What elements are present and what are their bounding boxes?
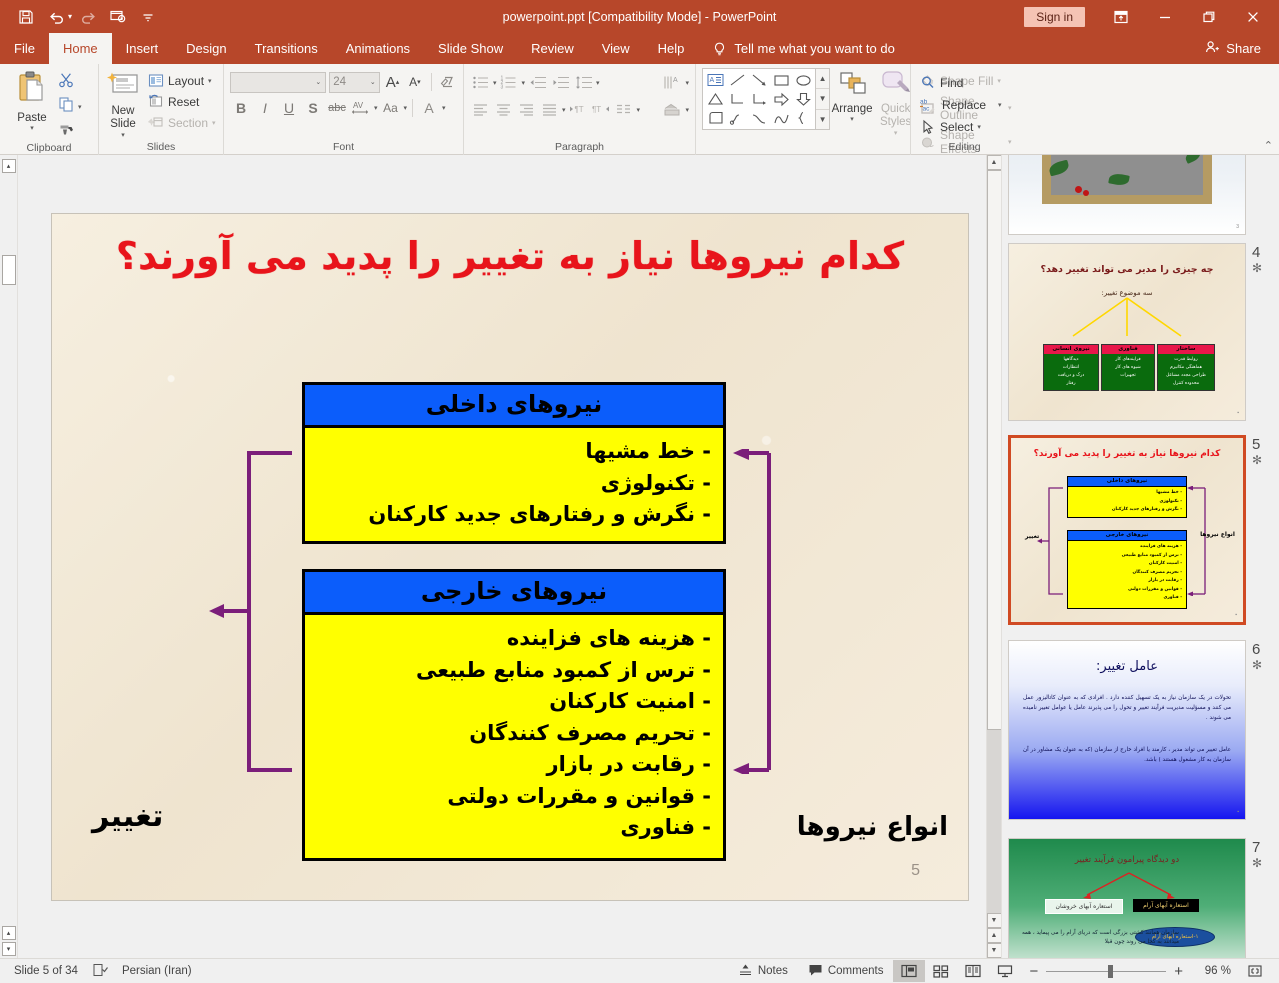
increase-font-size-button[interactable]: A▴	[383, 71, 402, 93]
rail-scroll-down-icon[interactable]: ▾	[2, 942, 16, 956]
shape-down-arrow-icon[interactable]	[792, 89, 814, 108]
character-spacing-button[interactable]: AV	[350, 97, 372, 119]
format-painter-icon	[58, 120, 75, 141]
underline-button[interactable]: U	[278, 97, 300, 119]
group-label-font: Font	[224, 140, 463, 155]
reset-icon	[148, 94, 164, 109]
canvas-vertical-scrollbar[interactable]: ▲ ▼ ▲ ▼	[986, 155, 1001, 958]
notes-label: Notes	[758, 965, 788, 977]
arrange-label: Arrange	[832, 103, 873, 115]
previous-slide-icon[interactable]: ▲	[987, 928, 1002, 943]
increase-indent-icon[interactable]	[550, 72, 571, 93]
undo-dropdown-icon[interactable]: ▾	[68, 12, 72, 21]
paste-button[interactable]: Paste ▾	[6, 68, 58, 132]
status-bar: Slide 5 of 34 Persian (Iran) Notes Comme…	[0, 958, 1279, 983]
reset-button[interactable]: Reset	[145, 92, 219, 111]
shape-left-brace-icon[interactable]	[792, 109, 814, 128]
arrange-icon	[835, 70, 869, 103]
paste-dropdown-icon[interactable]: ▾	[30, 124, 34, 132]
internal-forces-box[interactable]: نیروهای داخلی - خط مشیها - تکنولوژی - نگ…	[302, 382, 726, 544]
thumbnail-body: سازمان همانند کشتی بزرگی است که دریای آر…	[1019, 929, 1179, 947]
font-name-combobox[interactable]: ⌄	[230, 72, 326, 93]
list-item: - قوانین و مقررات دولتی	[317, 781, 711, 813]
align-center-icon[interactable]	[493, 99, 514, 120]
thumbnail-slide-4[interactable]: چه چیزی را مدیر می تواند تغییر دهد؟ سه م…	[1008, 243, 1246, 421]
svg-text:¶T: ¶T	[575, 105, 584, 114]
quick-styles-dropdown-icon[interactable]: ▾	[894, 129, 898, 137]
tab-help[interactable]: Help	[644, 33, 699, 64]
list-item: - هزینه های فزاینده	[317, 623, 711, 655]
shape-elbow-connector-icon[interactable]	[726, 89, 748, 108]
next-slide-icon[interactable]: ▼	[987, 943, 1002, 958]
group-label-paragraph: Paragraph	[464, 140, 695, 155]
smartart-dropdown-icon[interactable]: ▾	[685, 106, 689, 114]
tab-home[interactable]: Home	[49, 33, 112, 64]
thumbnail-number: 5	[1252, 437, 1260, 453]
thumbnail-slide-number: ▪	[1237, 410, 1239, 416]
gallery-scroll-down-icon[interactable]: ▼	[816, 88, 828, 108]
thumbnail-left-bracket	[1037, 486, 1071, 596]
slide-indicator[interactable]: Slide 5 of 34	[14, 965, 78, 977]
thumbnail-row[interactable]: چه چیزی را مدیر می تواند تغییر دهد؟ سه م…	[1002, 243, 1279, 421]
tab-animations[interactable]: Animations	[332, 33, 424, 64]
search-icon	[920, 75, 936, 90]
thumbnail-row[interactable]: کدام نیروها نیاز به تغییر را پدید می آور…	[1002, 435, 1279, 625]
comments-label: Comments	[828, 965, 884, 977]
change-case-dropdown-icon[interactable]: ▾	[404, 104, 408, 112]
list-item: - خط مشیها	[317, 436, 711, 468]
zoom-slider[interactable]	[1046, 971, 1166, 972]
tell-me-search[interactable]: Tell me what you want to do	[712, 33, 894, 64]
shape-flowchart-icon[interactable]	[704, 109, 726, 128]
gallery-scroll-up-icon[interactable]: ▲	[816, 69, 828, 88]
align-dropdown-icon[interactable]: ▾	[562, 106, 566, 114]
list-item: - ترس از کمبود منابع طبیعی	[317, 655, 711, 687]
zoom-control[interactable]: − + 96 %	[1021, 963, 1239, 980]
share-person-icon	[1204, 39, 1220, 58]
ribbon-group-font: ⌄ 24 ⌄ A▴ A▾ B	[223, 64, 463, 155]
copy-button[interactable]: ▾	[58, 96, 82, 117]
ltr-text-direction-icon[interactable]: ¶T	[568, 99, 589, 120]
animation-star-icon[interactable]: ✻	[1252, 856, 1262, 870]
external-forces-list: - هزینه های فزاینده - ترس از کمبود منابع…	[305, 615, 723, 858]
left-bracket-arrow	[207, 449, 342, 774]
thumbnail-slide-5[interactable]: کدام نیروها نیاز به تغییر را پدید می آور…	[1008, 435, 1246, 625]
ribbon-group-slides: New Slide ▾ Layout ▾	[98, 64, 223, 155]
replace-button[interactable]: abac Replace ▾	[917, 95, 1005, 114]
fit-slide-to-window-icon[interactable]	[1239, 960, 1271, 982]
bullets-icon[interactable]	[470, 72, 491, 93]
scroll-track[interactable]	[987, 170, 1002, 913]
thumbnail-slide-number: ▪	[1235, 612, 1237, 618]
ribbon-tabs: File Home Insert Design Transitions Anim…	[0, 33, 1279, 64]
section-dropdown-icon[interactable]: ▾	[212, 119, 216, 127]
comments-button[interactable]: Comments	[798, 959, 894, 983]
thumbnail-paragraph: تحولات در یک سازمان نیاز به یک تسهیل کنن…	[1023, 693, 1231, 723]
undo-icon[interactable]	[42, 4, 70, 30]
internal-forces-list: - خط مشیها - تکنولوژی - نگرش و رفتارهای …	[305, 428, 723, 541]
clear-formatting-icon[interactable]	[438, 71, 457, 93]
replace-dropdown-icon[interactable]: ▾	[998, 101, 1002, 109]
arrange-button[interactable]: Arrange ▾	[830, 68, 875, 123]
tab-view[interactable]: View	[588, 33, 644, 64]
section-icon	[148, 115, 164, 130]
slide-thumbnail-pane[interactable]: مقابله با وسیله تغییر صورت می گیرد. تغیی…	[1001, 155, 1279, 958]
decrease-font-size-button[interactable]: A▾	[405, 71, 424, 93]
label-change[interactable]: تغییر	[92, 799, 163, 834]
redo-icon[interactable]	[74, 4, 102, 30]
thumbnail-arrows	[1069, 871, 1189, 901]
shape-arrow-icon[interactable]	[748, 70, 770, 89]
gallery-expand-icon[interactable]: ▼	[816, 109, 828, 129]
right-bracket-arrows	[727, 449, 842, 774]
paste-icon	[15, 70, 49, 111]
scroll-up-icon[interactable]: ▲	[987, 155, 1002, 170]
replace-icon: abac	[920, 97, 938, 112]
collapse-ribbon-icon[interactable]: ⌃	[1264, 139, 1273, 152]
thumbnail-box-human: نیروی انسانی دیدگاهها انتظارات درک و دری…	[1043, 344, 1099, 391]
layout-dropdown-icon[interactable]: ▾	[208, 77, 212, 85]
find-button[interactable]: Find	[917, 73, 1005, 92]
thumbnail-tag-calm: استعاره آبهای آرام	[1133, 899, 1199, 912]
slide-number: 5	[911, 862, 920, 880]
decrease-indent-icon[interactable]	[527, 72, 548, 93]
collapsed-slide-pane[interactable]	[2, 255, 16, 285]
list-item: - تکنولوژی	[317, 468, 711, 500]
powerpoint-window: ▾ powerpoint.ppt [Compatibility Mode] - …	[0, 0, 1279, 983]
tab-review[interactable]: Review	[517, 33, 588, 64]
svg-text:3: 3	[501, 85, 504, 90]
layout-icon	[148, 73, 164, 88]
change-case-button[interactable]: Aa	[380, 97, 402, 119]
current-slide[interactable]: کدام نیروها نیاز به تغییر را پدید می آور…	[51, 213, 969, 901]
zoom-out-icon[interactable]: −	[1029, 963, 1038, 980]
minimize-icon[interactable]	[1143, 0, 1187, 33]
tab-file[interactable]: File	[0, 33, 49, 64]
animation-star-icon[interactable]: ✻	[1252, 658, 1262, 672]
thumbnail-slide-6[interactable]: عامل تغییر: تحولات در یک سازمان نیاز به …	[1008, 640, 1246, 820]
thumbnail-title: چه چیزی را مدیر می تواند تغییر دهد؟	[1009, 264, 1245, 275]
thumbnail-paragraph: عامل تغییر می تواند مدیر ، کارمند یا افر…	[1023, 745, 1231, 765]
new-slide-button[interactable]: New Slide ▾	[105, 68, 141, 139]
new-slide-icon	[105, 70, 141, 105]
sign-in-button[interactable]: Sign in	[1024, 7, 1085, 27]
notes-icon	[738, 963, 753, 980]
bullets-dropdown-icon[interactable]: ▾	[493, 79, 497, 87]
list-item: - تحریم مصرف کنندگان	[317, 718, 711, 750]
paste-label: Paste	[17, 112, 46, 124]
accessibility-checker-icon[interactable]	[92, 963, 108, 980]
connector-lines	[1009, 296, 1246, 344]
cursor-icon	[920, 119, 936, 134]
left-rail: ▴ ▴ ▾	[0, 155, 18, 958]
find-label: Find	[940, 76, 963, 90]
ribbon-group-clipboard: Paste ▾ ▾	[0, 64, 98, 155]
internal-forces-heading: نیروهای داخلی	[305, 385, 723, 428]
new-slide-label: New Slide	[105, 105, 141, 131]
slide-title[interactable]: کدام نیروها نیاز به تغییر را پدید می آور…	[52, 234, 968, 278]
text-direction-icon[interactable]: A	[662, 72, 683, 93]
numbering-dropdown-icon[interactable]: ▾	[522, 79, 526, 87]
thumbnail-number: 7	[1252, 840, 1260, 856]
svg-text:ac: ac	[923, 106, 931, 113]
ribbon-group-editing: Find abac Replace ▾ Select	[910, 64, 1018, 155]
list-item: - فناوری	[317, 812, 711, 844]
external-forces-heading: نیروهای خارجی	[305, 572, 723, 615]
format-painter-button[interactable]	[58, 120, 82, 141]
copy-dropdown-icon[interactable]: ▾	[78, 103, 82, 111]
tell-me-label: Tell me what you want to do	[734, 41, 894, 56]
thumbnail-slide-number: 3	[1236, 224, 1239, 230]
align-right-icon[interactable]	[516, 99, 537, 120]
ribbon-display-options-icon[interactable]	[1099, 0, 1143, 33]
cut-icon	[58, 72, 75, 93]
layout-label: Layout	[168, 74, 204, 88]
shape-triangle-icon[interactable]	[704, 89, 726, 108]
ribbon-group-drawing: A	[695, 64, 910, 155]
line-spacing-icon[interactable]	[573, 72, 594, 93]
section-button[interactable]: Section ▾	[145, 113, 219, 132]
replace-label: Replace	[942, 98, 986, 112]
section-label: Section	[168, 116, 208, 130]
thumbnail-internal-box: نیروهای داخلی - خط مشیها - تکنولوژی - نگ…	[1067, 476, 1187, 518]
thumbnail-title: دو دیدگاه پیرامون فرآیند تغییر	[1009, 855, 1245, 865]
lightbulb-icon	[712, 41, 727, 57]
thumbnail-slide-3[interactable]: مقابله با وسیله تغییر صورت می گیرد. تغیی…	[1008, 155, 1246, 235]
tab-design[interactable]: Design	[172, 33, 240, 64]
columns-icon[interactable]	[614, 99, 635, 120]
font-size-value: 24	[333, 76, 346, 88]
reset-label: Reset	[168, 95, 199, 109]
cut-button[interactable]	[58, 72, 82, 93]
shape-oval-icon[interactable]	[792, 70, 814, 89]
thumbnail-title: عامل تغییر:	[1009, 659, 1245, 674]
font-size-combobox[interactable]: 24 ⌄	[329, 72, 379, 93]
comment-icon	[808, 963, 823, 980]
list-item: - نگرش و رفتارهای جدید کارکنان	[317, 499, 711, 531]
strikethrough-button[interactable]: abc	[326, 97, 348, 119]
external-forces-box[interactable]: نیروهای خارجی - هزینه های فزاینده - ترس …	[302, 569, 726, 861]
shapes-gallery-scrollbar[interactable]: ▲ ▼ ▼	[816, 68, 829, 130]
customize-qat-icon[interactable]	[134, 4, 162, 30]
thumbnail-row[interactable]: مقابله با وسیله تغییر صورت می گیرد. تغیی…	[1002, 155, 1279, 235]
group-label-slides: Slides	[99, 140, 223, 155]
shape-line-icon[interactable]	[726, 70, 748, 89]
close-icon[interactable]	[1231, 0, 1275, 33]
list-item: - امنیت کارکنان	[317, 686, 711, 718]
shape-elbow-arrow-icon[interactable]	[748, 89, 770, 108]
quick-access-toolbar: ▾	[0, 4, 162, 30]
line-spacing-dropdown-icon[interactable]: ▾	[596, 79, 600, 87]
thumbnail-right-bracket	[1183, 486, 1215, 596]
shape-rectangle-icon[interactable]	[770, 70, 792, 89]
normal-view-icon[interactable]	[893, 960, 925, 982]
label-types-of-forces[interactable]: انواع نیروها	[797, 812, 948, 842]
work-area: ▴ ▴ ▾ کدام نیروها نیاز به تغییر را پدید …	[0, 155, 1279, 958]
thumbnail-row[interactable]: عامل تغییر: تحولات در یک سازمان نیاز به …	[1002, 640, 1279, 820]
font-color-dropdown-icon[interactable]: ▾	[442, 104, 446, 112]
svg-text:AV: AV	[353, 101, 364, 110]
text-shadow-button[interactable]: S	[302, 97, 324, 119]
zoom-percent[interactable]: 96 %	[1191, 965, 1231, 977]
group-label-editing: Editing	[911, 140, 1018, 155]
rtl-text-direction-icon[interactable]: ¶T	[591, 99, 612, 120]
italic-button[interactable]: I	[254, 97, 276, 119]
restore-icon[interactable]	[1187, 0, 1231, 33]
scroll-thumb[interactable]	[987, 170, 1002, 730]
reading-view-icon[interactable]	[957, 960, 989, 982]
thumbnail-box-structure: ساختار روابط قدرت هماهنگی مکانیزم طراحی …	[1157, 344, 1215, 391]
thumbnail-label-change: تغییر	[1025, 533, 1039, 540]
tab-slide-show[interactable]: Slide Show	[424, 33, 517, 64]
svg-text:¶T: ¶T	[592, 105, 601, 114]
thumbnail-slide-7[interactable]: دو دیدگاه پیرامون فرآیند تغییر استعاره آ…	[1008, 838, 1246, 958]
share-button[interactable]: Share	[1204, 33, 1279, 64]
thumbnail-external-box: نیروهای خارجی - هزینه های فزاینده - ترس …	[1067, 530, 1187, 609]
shape-textbox-icon[interactable]: A	[704, 70, 726, 89]
group-label-clipboard: Clipboard	[0, 141, 98, 156]
thumbnail-row[interactable]: دو دیدگاه پیرامون فرآیند تغییر استعاره آ…	[1002, 838, 1279, 958]
quick-styles-icon	[879, 70, 913, 103]
shape-right-arrow-icon[interactable]	[770, 89, 792, 108]
rail-scroll-up-icon[interactable]: ▴	[2, 926, 16, 940]
arrange-dropdown-icon[interactable]: ▾	[850, 115, 854, 123]
svg-text:A: A	[673, 77, 678, 84]
thumbnail-label-types: انواع نیروها	[1200, 531, 1235, 538]
slideshow-icon[interactable]	[989, 960, 1021, 982]
font-size-dropdown-icon[interactable]: ⌄	[370, 78, 376, 86]
start-slideshow-icon[interactable]	[104, 4, 132, 30]
save-icon[interactable]	[12, 4, 40, 30]
shape-freeform-icon[interactable]	[726, 109, 748, 128]
text-direction-dropdown-icon[interactable]: ▾	[685, 79, 689, 87]
expand-thumbnail-pane-icon[interactable]: ▴	[2, 159, 16, 173]
slide-sorter-icon[interactable]	[925, 960, 957, 982]
thumbnail-box-technology: فناوری فرایندهای کار شیوه های کار تجهیزا…	[1101, 344, 1155, 391]
character-spacing-dropdown-icon[interactable]: ▾	[374, 104, 378, 112]
columns-dropdown-icon[interactable]: ▾	[637, 106, 641, 114]
ribbon: Paste ▾ ▾	[0, 64, 1279, 155]
zoom-in-icon[interactable]: +	[1174, 963, 1183, 980]
language-indicator[interactable]: Persian (Iran)	[122, 965, 192, 977]
list-item: - رقابت در بازار	[317, 749, 711, 781]
animation-star-icon[interactable]: ✻	[1252, 261, 1262, 275]
notes-button[interactable]: Notes	[728, 959, 798, 983]
layout-button[interactable]: Layout ▾	[145, 71, 219, 90]
ribbon-group-paragraph: ▾ 123 ▾ ▾	[463, 64, 695, 155]
justify-icon[interactable]	[539, 99, 560, 120]
thumbnail-number: 4	[1252, 245, 1260, 261]
select-button[interactable]: Select ▾	[917, 117, 1005, 136]
new-slide-dropdown-icon[interactable]: ▾	[121, 131, 125, 139]
tab-insert[interactable]: Insert	[112, 33, 173, 64]
shapes-gallery[interactable]: A	[702, 68, 816, 130]
shape-arc-icon[interactable]	[770, 109, 792, 128]
thumbnail-slide-number: ▪	[1237, 809, 1239, 815]
zoom-slider-thumb[interactable]	[1108, 965, 1113, 978]
align-left-icon[interactable]	[470, 99, 491, 120]
thumbnail-tag-turbulent: استعاره آبهای خروشان	[1045, 899, 1123, 914]
animation-star-icon[interactable]: ✻	[1252, 453, 1262, 467]
convert-to-smartart-icon[interactable]	[662, 99, 683, 120]
svg-text:A: A	[709, 77, 714, 84]
select-label: Select	[940, 120, 973, 134]
shape-curve-icon[interactable]	[748, 109, 770, 128]
share-label: Share	[1226, 41, 1261, 56]
select-dropdown-icon[interactable]: ▾	[977, 123, 981, 131]
font-color-button[interactable]: A	[418, 97, 440, 119]
bold-button[interactable]: B	[230, 97, 252, 119]
font-name-dropdown-icon[interactable]: ⌄	[315, 78, 321, 86]
numbering-icon[interactable]: 123	[499, 72, 520, 93]
slide-canvas[interactable]: کدام نیروها نیاز به تغییر را پدید می آور…	[18, 155, 986, 958]
tab-transitions[interactable]: Transitions	[241, 33, 332, 64]
copy-icon	[58, 96, 75, 117]
title-bar: ▾ powerpoint.ppt [Compatibility Mode] - …	[0, 0, 1279, 33]
scroll-down-icon[interactable]: ▼	[987, 913, 1002, 928]
thumbnail-title: کدام نیروها نیاز به تغییر را پدید می آور…	[1011, 449, 1243, 459]
svg-text:ab: ab	[920, 99, 928, 106]
thumbnail-number: 6	[1252, 642, 1260, 658]
